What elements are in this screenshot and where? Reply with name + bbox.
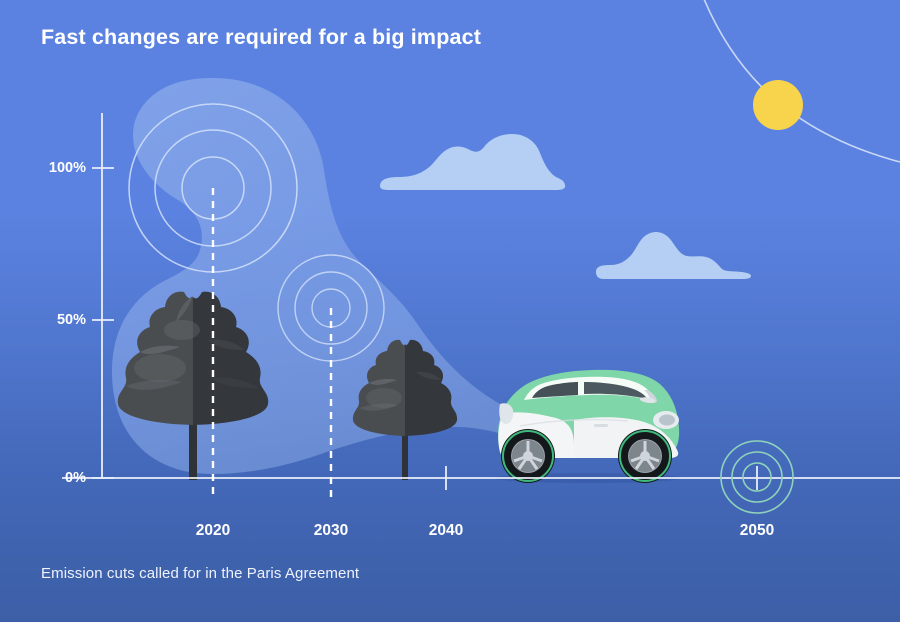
electric-car [494, 370, 682, 483]
x-axis-label-2030: 2030 [314, 522, 348, 540]
y-axis-label-100: 100% [0, 160, 86, 176]
cloud-large [380, 134, 565, 190]
cloud-small [596, 232, 751, 279]
x-axis-label-2020: 2020 [196, 522, 230, 540]
y-axis-label-50: 50% [0, 312, 86, 328]
x-axis-label-2040: 2040 [429, 522, 463, 540]
front-wheel [618, 429, 672, 483]
x-axis-label-2050: 2050 [740, 522, 774, 540]
rear-wheel [501, 429, 555, 483]
page-title: Fast changes are required for a big impa… [41, 25, 481, 50]
chart-caption: Emission cuts called for in the Paris Ag… [41, 565, 359, 582]
infographic-canvas: Fast changes are required for a big impa… [0, 0, 900, 622]
sun-icon [753, 80, 803, 130]
y-axis-label-0: 0% [0, 470, 86, 486]
orbit-arc [690, 0, 900, 162]
